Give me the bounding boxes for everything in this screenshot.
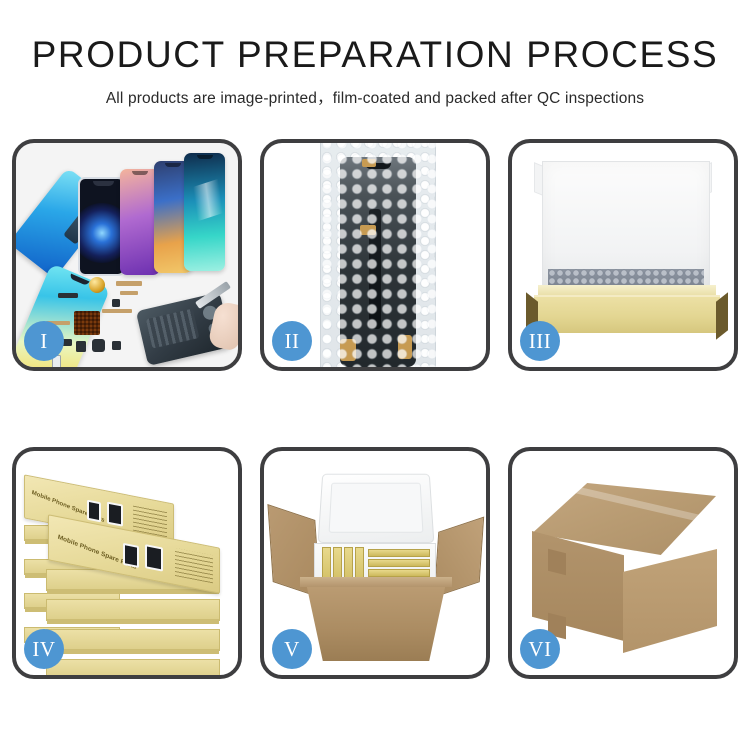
flex-cable-icon [102, 309, 132, 313]
step-badge: II [272, 321, 312, 361]
box-window-icon [145, 544, 163, 571]
inner-box-icon [368, 549, 430, 557]
notch-icon [165, 163, 181, 167]
component-icon [76, 341, 86, 352]
step-panel-open-inner-box[interactable]: III [508, 139, 738, 371]
carton-left-face-icon [532, 531, 624, 641]
speaker-coin-icon [89, 277, 105, 293]
phone-teal-icon [184, 153, 225, 271]
step-badge: V [272, 629, 312, 669]
notch-icon [132, 171, 148, 175]
header: PRODUCT PREPARATION PROCESS All products… [0, 0, 750, 108]
step-panel-foam-lined-carton[interactable]: V [260, 447, 490, 679]
chip-grid-icon [74, 311, 100, 335]
box-front-icon [534, 295, 720, 333]
step-badge: I [24, 321, 64, 361]
step-panel-parts-collage[interactable]: I [12, 139, 242, 371]
stacked-box [46, 629, 220, 651]
step-badge: IV [24, 629, 64, 669]
component-icon [58, 293, 78, 298]
notch-icon [197, 155, 213, 159]
screen-glass-icon [78, 177, 125, 276]
bubble-overlay-icon [320, 143, 436, 367]
box-spec-lines [175, 548, 213, 583]
carton-lip-icon [300, 577, 452, 587]
flex-cable-icon [120, 291, 138, 295]
step-badge: III [520, 321, 560, 361]
stacked-box [46, 659, 220, 675]
box-window-icon [87, 500, 101, 523]
product-preparation-infographic: PRODUCT PREPARATION PROCESS All products… [0, 0, 750, 750]
box-window-icon [107, 502, 123, 527]
page-subtitle: All products are image-printed，film-coat… [0, 86, 750, 108]
step-badge: VI [520, 629, 560, 669]
carton-tab-icon [548, 549, 566, 575]
stacked-box [46, 599, 220, 621]
step-panel-stacked-inner-boxes[interactable]: Mobile Phone Spare Parts Mobile Phone Sp… [12, 447, 242, 679]
inner-box-icon [368, 569, 430, 577]
step-panel-sealed-carton[interactable]: VI [508, 447, 738, 679]
foam-lid-icon [318, 474, 435, 543]
flex-cable-icon [116, 281, 142, 286]
process-steps-grid: I II [12, 139, 738, 679]
component-icon [112, 299, 120, 307]
component-icon [112, 341, 121, 350]
box-window-icon [123, 543, 139, 568]
inner-box-icon [368, 559, 430, 567]
step-panel-bubble-wrapped-screen[interactable]: II [260, 139, 490, 371]
carton-body-icon [306, 583, 446, 661]
carton-right-face-icon [623, 549, 717, 653]
page-title: PRODUCT PREPARATION PROCESS [0, 36, 750, 75]
component-icon [92, 339, 105, 352]
